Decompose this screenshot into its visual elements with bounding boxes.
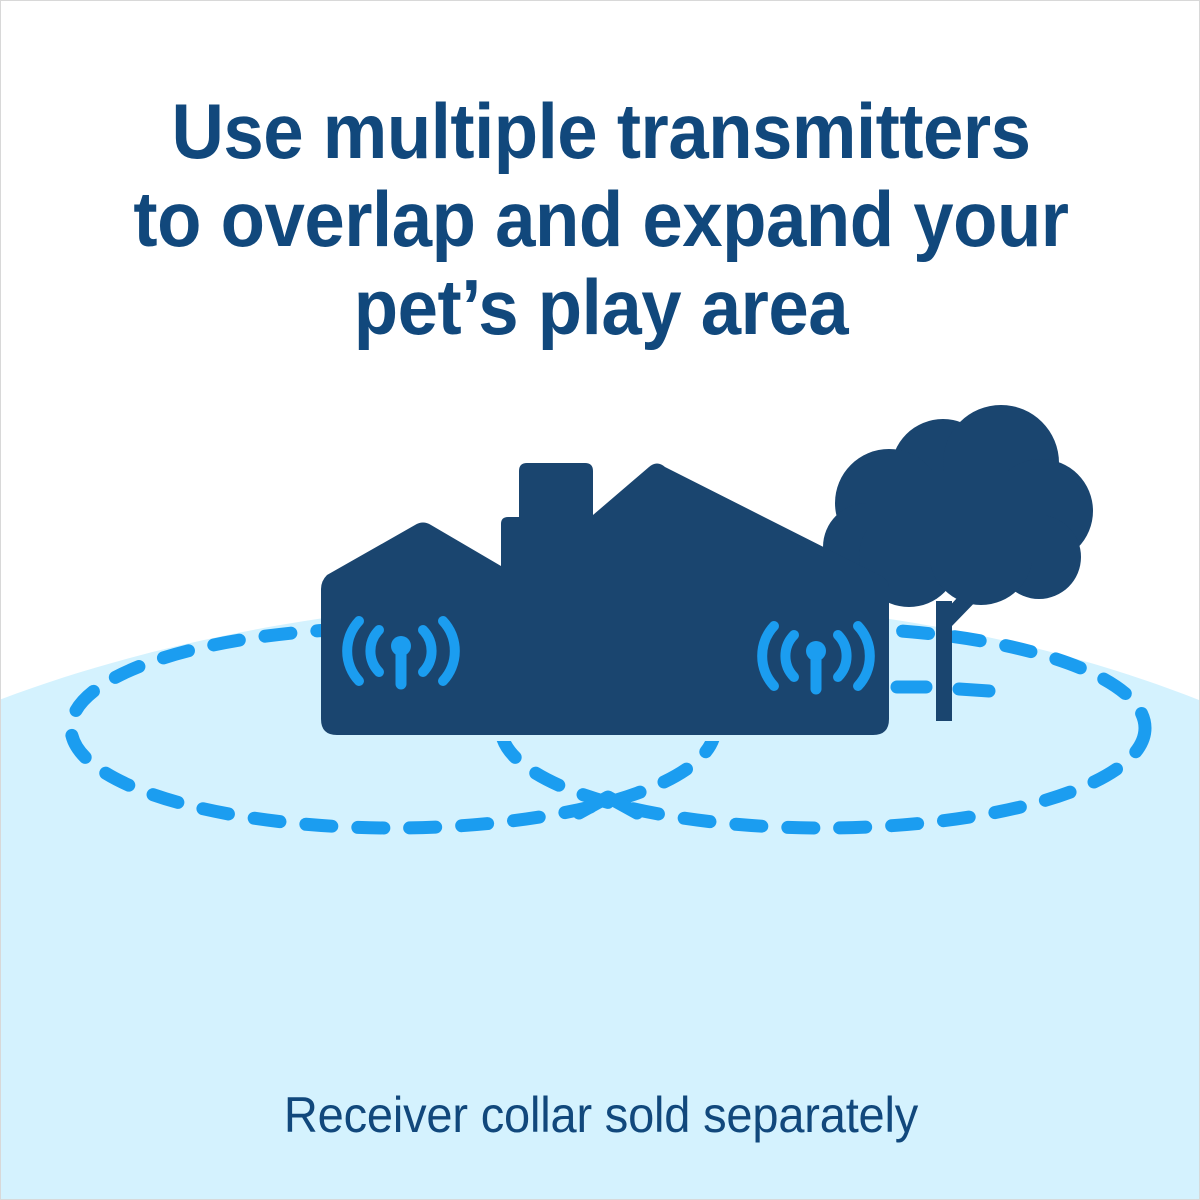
infographic-canvas: Use multiple transmitters to overlap and… xyxy=(0,0,1200,1200)
boundary-dash-right-of-tree xyxy=(959,689,989,691)
house-silhouette xyxy=(321,463,889,735)
illustration-scene xyxy=(1,1,1200,1200)
footnote-caption: Receiver collar sold separately xyxy=(37,1086,1165,1144)
